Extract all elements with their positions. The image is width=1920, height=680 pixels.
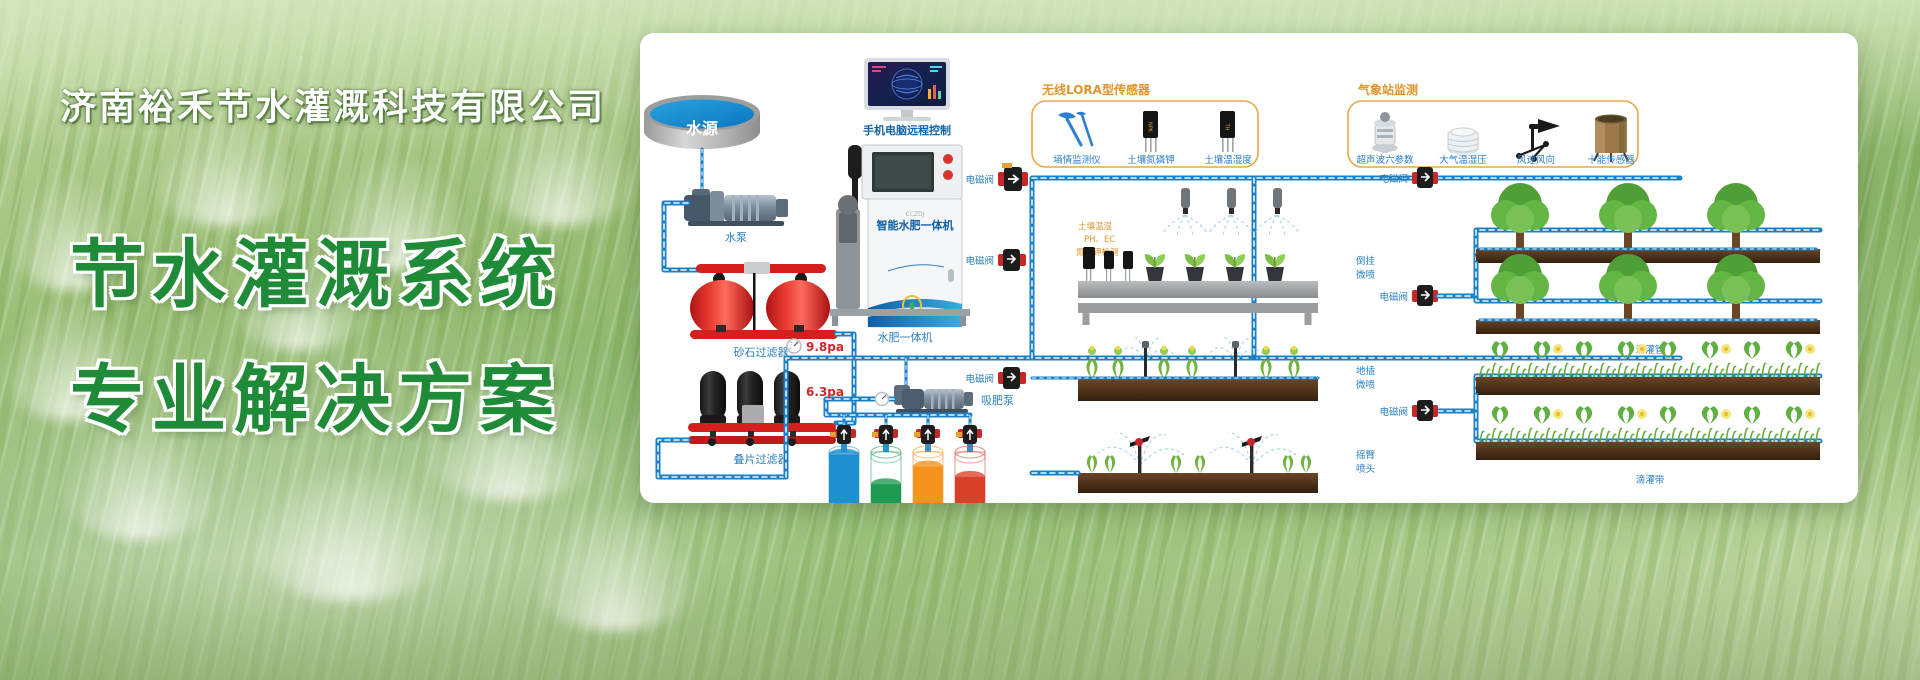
- potted-plants-row: [1145, 254, 1285, 283]
- bench-shelf: [1078, 303, 1318, 313]
- water-pump-icon: [684, 189, 788, 226]
- pressure-gauge-main-icon: [787, 339, 801, 353]
- weather-group-title: 气象站监测: [1357, 82, 1418, 97]
- tree-icon: [1599, 183, 1657, 251]
- zone-tag-0-line2: 微喷: [1356, 269, 1376, 281]
- weather-item-label-2: 风速风向: [1517, 154, 1555, 166]
- weather-item-label-3: 十能传感器: [1587, 154, 1635, 166]
- fert-injector-valve[interactable]: [914, 425, 940, 444]
- valve-label-rocker: 电磁阀: [1379, 173, 1408, 185]
- cabinet-model: CCZDJ: [906, 211, 925, 218]
- disc-filter-icon: [688, 371, 836, 446]
- valve-label-bottom: 电磁阀: [1379, 406, 1408, 418]
- solenoid-valve-top: [998, 163, 1028, 191]
- bench-top: [1078, 281, 1318, 298]
- solenoid-valve-bottom: [1412, 400, 1438, 421]
- pressure-main-value: 9.8pa: [806, 340, 844, 354]
- tree-icon: [1599, 254, 1657, 322]
- sand-filter-icon: [690, 262, 838, 339]
- water-pump-label: 水泵: [725, 231, 747, 244]
- weather-item-label-0: 超声波六参数: [1356, 154, 1414, 166]
- bench-sensors: [1083, 247, 1133, 281]
- fertilizer-tank[interactable]: [829, 446, 859, 503]
- tree-icon: [1491, 254, 1549, 322]
- sprinkler-plume: [530, 510, 700, 630]
- lora-item-label-0: 墒情监测仪: [1053, 154, 1101, 166]
- zone-tag-0-line1: 倒挂: [1356, 255, 1376, 267]
- orchard-row-second: [1476, 254, 1820, 334]
- tree-icon: [1707, 183, 1765, 251]
- valve-label-bench: 电磁阀: [1379, 291, 1408, 303]
- diagram-label: TH: [1224, 123, 1230, 131]
- zone-tag-1-line2: 微喷: [1356, 379, 1376, 391]
- weather-item-label-1: 大气温湿压: [1439, 154, 1487, 166]
- fertilizer-tank-group: 肥料桶肥料桶肥料桶肥料桶: [829, 415, 985, 503]
- disc-filter-label: 叠片过滤器: [734, 453, 789, 466]
- fertilizer-tank[interactable]: [955, 446, 985, 503]
- pressure-gauge-fert-icon: [876, 393, 889, 406]
- pressure-fert-value: 6.3pa: [806, 385, 844, 399]
- solenoid-valve-bench: [1412, 285, 1438, 306]
- sprinkler-plume: [150, 120, 300, 225]
- bench-note-0: 土壤温湿: [1078, 221, 1113, 232]
- fert-injector-valve[interactable]: [956, 425, 982, 444]
- zone-tag-1-line1: 地插: [1356, 365, 1376, 377]
- zone-tag-2-line2: 喷头: [1356, 463, 1375, 475]
- sand-filter-label: 砂石过滤器: [734, 346, 789, 359]
- fert-injector-valve[interactable]: [872, 425, 898, 444]
- banner-stage: 济南裕禾节水灌溉科技有限公司 节水灌溉系统 专业解决方案: [0, 0, 1920, 680]
- diagram-label: NPK: [1147, 122, 1153, 133]
- tree-icon: [1707, 254, 1765, 322]
- lora-item-label-1: 土壤氮磷钾: [1127, 154, 1175, 166]
- bench-note-1: PH、EC: [1084, 235, 1115, 245]
- water-source-tank: 水源: [644, 95, 760, 149]
- sprinkler-plume: [250, 470, 450, 600]
- tree-icon: [1491, 183, 1549, 251]
- label-drip-tape: 滴灌带: [1636, 474, 1665, 486]
- solenoid-valve-ground: [998, 367, 1026, 389]
- fertigation-cabinet-icon: CCZDJ 智能水肥一体机: [830, 145, 970, 327]
- solenoid-valve-rocker: [1412, 167, 1438, 188]
- zone-tag-2-line1: 摇臂: [1356, 449, 1376, 461]
- lora-item-label-2: 土壤温湿度: [1204, 154, 1252, 166]
- solenoid-valve-mid: [998, 249, 1026, 271]
- remote-monitor-icon: [864, 58, 950, 121]
- lora-group-title: 无线LORA型传感器: [1041, 82, 1151, 97]
- fert-suction-pump-icon: [894, 385, 973, 413]
- cabinet-label: 水肥一体机: [878, 330, 933, 344]
- fert-pump-label: 吸肥泵: [981, 394, 1014, 407]
- system-diagram-card: .lbl{font:11px "DejaVu Sans","Liberation…: [640, 33, 1858, 503]
- orchard-row-top: [1476, 183, 1820, 263]
- cabinet-badge: 智能水肥一体机: [877, 218, 954, 232]
- valve-label-top: 电磁阀: [965, 174, 994, 186]
- headline-line-1: 节水灌溉系统: [70, 215, 562, 322]
- headline-line-2: 专业解决方案: [70, 340, 562, 447]
- valve-label-mid: 电磁阀: [965, 255, 994, 267]
- field-haze-bottom: [0, 560, 1920, 680]
- remote-control-label: 手机电脑远程控制: [863, 123, 951, 137]
- company-name: 济南裕禾节水灌溉科技有限公司: [60, 78, 606, 130]
- hanging-micro-spray-heads: [1163, 188, 1299, 235]
- lora-sensor-icons: NPK TH: [1058, 111, 1235, 152]
- fertilizer-tank[interactable]: [871, 446, 901, 503]
- ground-micro-spray-zone: [1032, 337, 1318, 401]
- vegetable-row-bottom: [1476, 406, 1820, 460]
- water-source-label: 水源: [686, 119, 718, 138]
- valve-label-ground: 电磁阀: [965, 373, 994, 385]
- rocker-sprinkler-zone: [1078, 433, 1318, 493]
- fertilizer-tank[interactable]: [913, 446, 943, 503]
